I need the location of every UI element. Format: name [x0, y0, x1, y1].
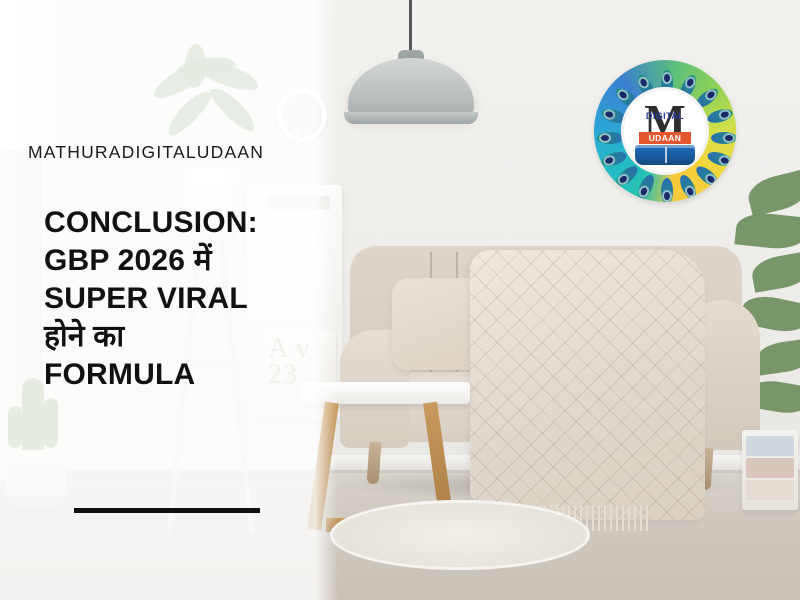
- headline-line-5: FORMULA: [44, 356, 334, 394]
- divider-rule: [74, 508, 260, 513]
- brand-name: MATHURADIGITALUDAAN: [28, 142, 264, 163]
- promotional-banner: A v 23: [0, 0, 800, 600]
- headline-line-3: SUPER VIRAL: [44, 280, 334, 318]
- open-book-icon: [635, 145, 695, 165]
- logo-tagline-bottom: UDAAN: [639, 132, 691, 144]
- logo-badge: M DIGITAL UDAAN: [594, 60, 736, 202]
- throw-blanket: [470, 250, 705, 520]
- headline-line-2: GBP 2026 में: [44, 242, 334, 280]
- logo-center: M DIGITAL UDAAN: [621, 87, 709, 175]
- throw-blanket-pattern: [470, 250, 705, 520]
- headline: CONCLUSION: GBP 2026 में SUPER VIRAL होन…: [44, 204, 334, 394]
- magazine-rack: [742, 430, 798, 510]
- round-rug: [330, 500, 590, 570]
- logo-tagline-top: DIGITAL: [621, 111, 709, 121]
- pendant-lamp-rim: [344, 112, 478, 124]
- headline-line-4: होने का: [44, 318, 334, 356]
- headline-line-1: CONCLUSION:: [44, 204, 334, 242]
